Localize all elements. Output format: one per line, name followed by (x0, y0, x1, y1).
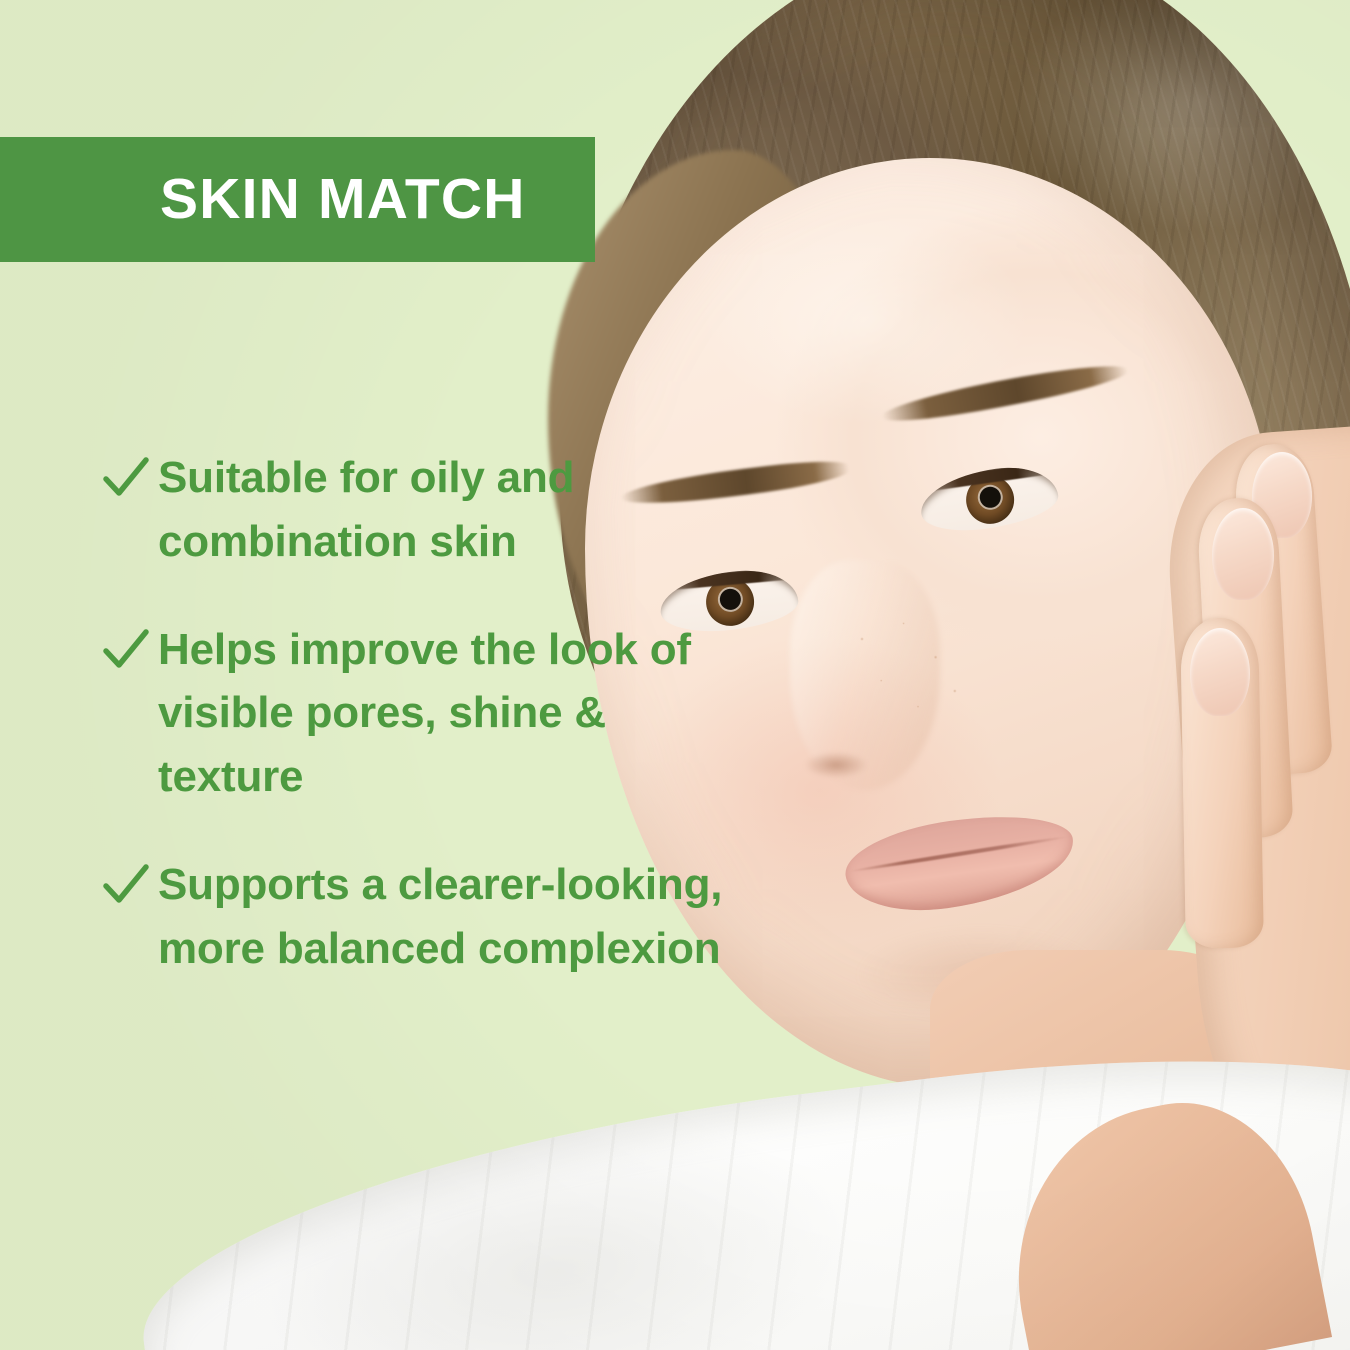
benefit-text: Supports a clearer-looking, more balance… (158, 853, 750, 981)
check-icon (100, 859, 152, 911)
benefit-text: Suitable for oily and combination skin (158, 446, 750, 574)
freckles (830, 600, 990, 730)
fingernail-middle (1212, 508, 1274, 600)
skin-match-banner: SKIN MATCH (0, 137, 595, 262)
benefit-text: Helps improve the look of visible pores,… (158, 618, 750, 809)
banner-title: SKIN MATCH (160, 171, 526, 228)
benefit-item: Suitable for oily and combination skin (100, 446, 750, 574)
nostril (805, 752, 867, 778)
product-benefits-card: SKIN MATCH Suitable for oily and combina… (0, 0, 1350, 1350)
check-icon (100, 452, 152, 504)
fingernail-ring (1190, 628, 1250, 716)
check-icon (100, 624, 152, 676)
benefits-list: Suitable for oily and combination skin H… (100, 446, 750, 981)
benefit-item: Helps improve the look of visible pores,… (100, 618, 750, 809)
benefit-item: Supports a clearer-looking, more balance… (100, 853, 750, 981)
